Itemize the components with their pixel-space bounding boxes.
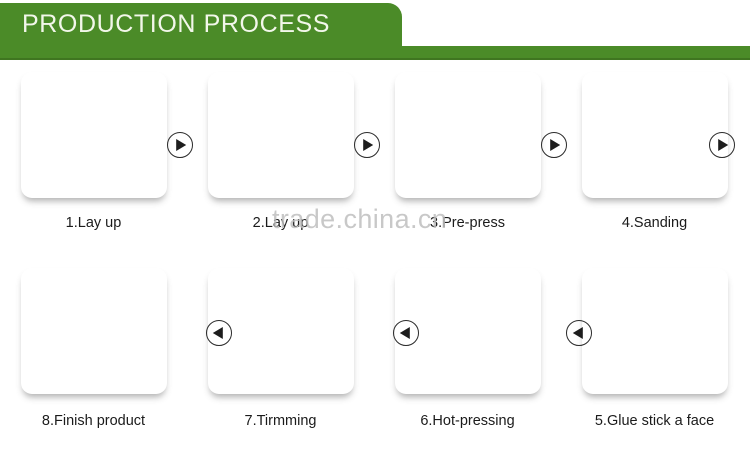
photo-glue-stick-a-face — [582, 268, 728, 394]
step-caption: 7.Tirmming — [245, 412, 317, 430]
photo-lay-up-1 — [21, 72, 167, 198]
process-step-7: 7.Tirmming — [187, 268, 374, 430]
photo-shell — [582, 72, 728, 198]
photo-shell — [21, 72, 167, 198]
step-caption: 1.Lay up — [66, 214, 122, 232]
photo-shell — [208, 72, 354, 198]
photo-finish-product — [21, 268, 167, 394]
arrow-left-circle-icon — [393, 320, 419, 346]
process-step-3: 3.Pre-press — [374, 72, 561, 232]
step-caption: 2.Lay up — [253, 214, 309, 232]
arrow-right-circle-icon — [167, 132, 193, 158]
step-caption: 5.Glue stick a face — [595, 412, 714, 430]
process-row-1: 1.Lay up 2.Lay up 3.Pre-press 4.Sanding — [0, 72, 750, 232]
arrow-right-circle-icon — [354, 132, 380, 158]
process-step-1: 1.Lay up — [0, 72, 187, 232]
arrow-left-circle-icon — [566, 320, 592, 346]
process-step-8: 8.Finish product — [0, 268, 187, 430]
process-step-5: 5.Glue stick a face — [561, 268, 748, 430]
page-title: PRODUCTION PROCESS — [22, 9, 330, 39]
step-caption: 6.Hot-pressing — [420, 412, 514, 430]
page-header: PRODUCTION PROCESS — [0, 0, 750, 60]
photo-lay-up-2 — [208, 72, 354, 198]
photo-pre-press — [395, 72, 541, 198]
photo-sanding — [582, 72, 728, 198]
arrow-right-circle-icon — [709, 132, 735, 158]
photo-shell — [21, 268, 167, 394]
photo-shell — [582, 268, 728, 394]
photo-shell — [395, 72, 541, 198]
process-step-6: 6.Hot-pressing — [374, 268, 561, 430]
step-caption: 4.Sanding — [622, 214, 687, 232]
process-row-2: 8.Finish product 7.Tirmming 6.Hot-pressi… — [0, 268, 750, 430]
step-caption: 8.Finish product — [42, 412, 145, 430]
arrow-left-circle-icon — [206, 320, 232, 346]
arrow-right-circle-icon — [541, 132, 567, 158]
process-step-2: 2.Lay up — [187, 72, 374, 232]
step-caption: 3.Pre-press — [430, 214, 505, 232]
